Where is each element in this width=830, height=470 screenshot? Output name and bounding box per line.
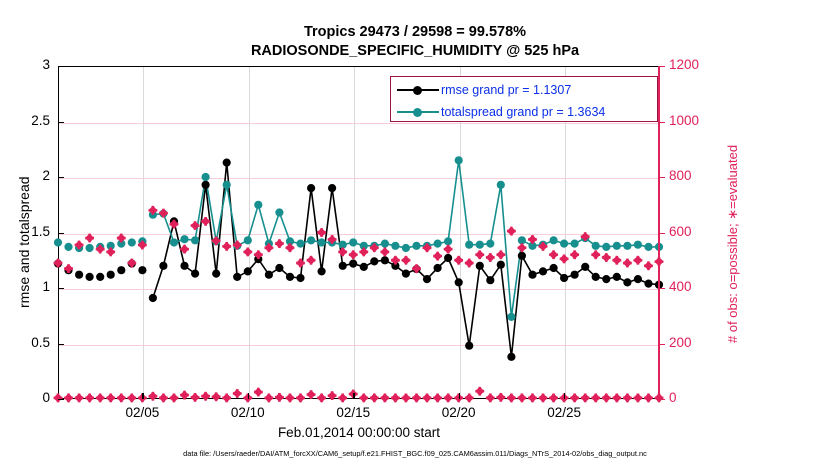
legend-swatch-rmse	[397, 83, 439, 97]
marker-rmse	[560, 274, 568, 282]
marker-obs-possible	[296, 258, 305, 267]
marker-totalspread	[402, 244, 410, 252]
marker-obs-evaluated	[359, 393, 368, 402]
y-tickmark-right-800	[659, 177, 665, 178]
marker-obs-evaluated	[581, 393, 590, 402]
y-tickmark-right-400	[659, 288, 665, 289]
marker-rmse	[339, 262, 347, 270]
marker-totalspread	[550, 236, 558, 244]
marker-obs-evaluated	[338, 393, 347, 402]
marker-totalspread	[86, 244, 94, 252]
marker-rmse	[465, 342, 473, 350]
marker-obs-possible	[591, 250, 600, 259]
y-tick-left-0.5: 0.5	[4, 335, 50, 350]
y-tickmark-right-1000	[659, 122, 665, 123]
marker-obs-evaluated	[422, 393, 431, 402]
marker-obs-evaluated	[285, 393, 294, 402]
marker-obs-possible	[602, 253, 611, 262]
chart-page: Tropics 29473 / 29598 = 99.578% RADIOSON…	[0, 0, 830, 470]
marker-obs-possible	[349, 250, 358, 259]
marker-obs-possible	[549, 250, 558, 259]
marker-totalspread	[623, 242, 631, 250]
marker-obs-evaluated	[254, 387, 263, 396]
marker-totalspread	[381, 240, 389, 248]
legend-item-totalspread[interactable]: totalspread grand pr = 1.3634	[391, 100, 605, 123]
marker-obs-possible	[401, 256, 410, 265]
marker-obs-evaluated	[159, 393, 168, 402]
marker-obs-possible	[222, 242, 231, 251]
marker-obs-possible	[633, 256, 642, 265]
marker-obs-possible	[517, 243, 526, 252]
marker-rmse	[96, 273, 104, 281]
marker-rmse	[528, 271, 536, 279]
marker-rmse	[233, 273, 241, 281]
marker-obs-evaluated	[53, 393, 62, 402]
marker-rmse	[202, 181, 210, 189]
marker-rmse	[223, 159, 231, 167]
marker-obs-evaluated	[180, 391, 189, 400]
marker-rmse	[623, 278, 631, 286]
marker-rmse	[180, 262, 188, 270]
marker-obs-possible	[496, 250, 505, 259]
marker-totalspread	[486, 240, 494, 248]
marker-obs-possible	[623, 258, 632, 267]
marker-rmse	[244, 267, 252, 275]
marker-obs-evaluated	[296, 393, 305, 402]
marker-obs-possible	[159, 208, 168, 217]
marker-obs-possible	[612, 256, 621, 265]
marker-obs-evaluated	[190, 393, 199, 402]
marker-totalspread	[349, 238, 357, 246]
marker-obs-possible	[560, 254, 569, 263]
x-tickmark-02/15	[353, 393, 354, 399]
marker-rmse	[476, 262, 484, 270]
marker-obs-evaluated	[433, 393, 442, 402]
data-file-footer: data file: /Users/raeder/DAI/ATM_forcXX/…	[0, 449, 830, 458]
marker-rmse	[581, 263, 589, 271]
y-tick-right-400: 400	[669, 279, 729, 294]
marker-rmse	[644, 280, 652, 288]
marker-rmse	[149, 294, 157, 302]
marker-obs-evaluated	[507, 393, 516, 402]
marker-obs-evaluated	[222, 393, 231, 402]
marker-totalspread	[318, 238, 326, 246]
marker-obs-evaluated	[85, 393, 94, 402]
y-tickmark-right-1200	[659, 66, 665, 67]
marker-rmse	[318, 267, 326, 275]
marker-obs-evaluated	[517, 393, 526, 402]
marker-obs-evaluated	[612, 393, 621, 402]
marker-obs-evaluated	[275, 393, 284, 402]
marker-rmse	[117, 266, 125, 274]
marker-obs-evaluated	[623, 393, 632, 402]
marker-totalspread	[634, 241, 642, 249]
marker-rmse	[539, 267, 547, 275]
y-tickmark-right-600	[659, 233, 665, 234]
marker-totalspread	[191, 236, 199, 244]
marker-obs-possible	[243, 247, 252, 256]
marker-totalspread	[412, 242, 420, 250]
y-tick-right-800: 800	[669, 168, 729, 183]
marker-obs-evaluated	[633, 393, 642, 402]
marker-obs-possible	[475, 250, 484, 259]
marker-obs-evaluated	[317, 393, 326, 402]
marker-obs-evaluated	[496, 393, 505, 402]
marker-rmse	[434, 264, 442, 272]
marker-totalspread	[465, 241, 473, 249]
y-tick-right-0: 0	[669, 390, 729, 405]
marker-totalspread	[307, 236, 315, 244]
marker-totalspread	[560, 240, 568, 248]
marker-totalspread	[244, 236, 252, 244]
marker-obs-evaluated	[64, 393, 73, 402]
x-tickmark-02/10	[248, 393, 249, 399]
legend-label-totalspread: totalspread grand pr = 1.3634	[441, 105, 605, 119]
y-tickmark-left-1.5	[58, 233, 64, 234]
marker-rmse	[550, 264, 558, 272]
marker-obs-evaluated	[380, 393, 389, 402]
marker-obs-evaluated	[391, 393, 400, 402]
marker-totalspread	[128, 238, 136, 246]
marker-rmse	[486, 276, 494, 284]
marker-rmse	[307, 184, 315, 192]
marker-obs-evaluated	[264, 393, 273, 402]
marker-totalspread	[518, 236, 526, 244]
marker-rmse	[613, 273, 621, 281]
marker-totalspread	[455, 156, 463, 164]
chart-legend: rmse grand pr = 1.1307 totalspread grand…	[390, 76, 658, 122]
marker-obs-evaluated	[233, 389, 242, 398]
marker-rmse	[296, 274, 304, 282]
marker-obs-possible	[85, 233, 94, 242]
marker-obs-evaluated	[96, 393, 105, 402]
marker-rmse	[455, 278, 463, 286]
marker-obs-possible	[465, 258, 474, 267]
marker-obs-possible	[53, 258, 62, 267]
marker-obs-evaluated	[401, 393, 410, 402]
marker-totalspread	[223, 181, 231, 189]
marker-obs-possible	[444, 245, 453, 254]
marker-obs-evaluated	[591, 393, 600, 402]
marker-rmse	[360, 263, 368, 271]
marker-totalspread	[602, 243, 610, 251]
marker-obs-possible	[338, 247, 347, 256]
marker-rmse	[138, 266, 146, 274]
marker-obs-evaluated	[117, 393, 126, 402]
marker-rmse	[634, 275, 642, 283]
marker-rmse	[602, 275, 610, 283]
y-tick-right-1000: 1000	[669, 113, 729, 128]
marker-obs-possible	[317, 228, 326, 237]
y-tickmark-left-0.5	[58, 344, 64, 345]
marker-totalspread	[592, 242, 600, 250]
marker-obs-possible	[644, 261, 653, 270]
marker-obs-evaluated	[212, 392, 221, 401]
x-tick-02/15: 02/15	[318, 405, 388, 420]
marker-obs-possible	[127, 258, 136, 267]
marker-obs-evaluated	[328, 391, 337, 400]
y-tickmark-left-1	[58, 288, 64, 289]
marker-rmse	[349, 260, 357, 268]
marker-rmse	[107, 271, 115, 279]
y-tick-left-3: 3	[4, 57, 50, 72]
marker-rmse	[275, 264, 283, 272]
marker-rmse	[402, 270, 410, 278]
marker-totalspread	[54, 238, 62, 246]
marker-obs-evaluated	[644, 393, 653, 402]
marker-obs-evaluated	[127, 393, 136, 402]
marker-obs-evaluated	[148, 392, 157, 401]
marker-obs-evaluated	[74, 393, 83, 402]
marker-rmse	[592, 273, 600, 281]
marker-totalspread	[64, 243, 72, 251]
y-tickmark-left-3	[58, 66, 64, 67]
marker-rmse	[212, 270, 220, 278]
y-tickmark-right-0	[659, 399, 665, 400]
marker-rmse	[286, 273, 294, 281]
marker-rmse	[423, 275, 431, 283]
marker-obs-evaluated	[465, 393, 474, 402]
y-tick-right-600: 600	[669, 224, 729, 239]
y-tick-right-200: 200	[669, 335, 729, 350]
marker-obs-possible	[507, 227, 516, 236]
marker-obs-evaluated	[201, 392, 210, 401]
marker-obs-evaluated	[370, 393, 379, 402]
y-tickmark-left-2	[58, 177, 64, 178]
marker-obs-possible	[359, 247, 368, 256]
marker-totalspread	[571, 240, 579, 248]
marker-totalspread	[613, 242, 621, 250]
marker-obs-possible	[306, 256, 315, 265]
marker-totalspread	[180, 235, 188, 243]
y-axis-right-label: # of obs: o=possible; ∗=evaluated	[725, 144, 741, 342]
marker-obs-possible	[486, 253, 495, 262]
marker-obs-evaluated	[412, 393, 421, 402]
marker-rmse	[518, 252, 526, 260]
x-axis-label: Feb.01,2014 00:00:00 start	[0, 425, 718, 440]
marker-obs-evaluated	[528, 393, 537, 402]
marker-totalspread	[507, 313, 515, 321]
marker-obs-evaluated	[169, 393, 178, 402]
marker-totalspread	[296, 240, 304, 248]
marker-totalspread	[202, 173, 210, 181]
marker-obs-evaluated	[549, 393, 558, 402]
marker-rmse	[86, 273, 94, 281]
marker-obs-evaluated	[444, 393, 453, 402]
marker-totalspread	[434, 240, 442, 248]
x-tick-02/25: 02/25	[529, 405, 599, 420]
y-axis-left-label: rmse and totalspread	[16, 176, 32, 308]
marker-totalspread	[476, 241, 484, 249]
marker-obs-possible	[433, 251, 442, 260]
marker-totalspread	[391, 242, 399, 250]
legend-label-rmse: rmse grand pr = 1.1307	[441, 83, 571, 97]
marker-rmse	[75, 271, 83, 279]
marker-obs-possible	[285, 243, 294, 252]
marker-obs-possible	[570, 250, 579, 259]
marker-totalspread	[444, 237, 452, 245]
marker-rmse	[381, 256, 389, 264]
marker-totalspread	[497, 181, 505, 189]
marker-rmse	[444, 254, 452, 262]
marker-totalspread	[644, 243, 652, 251]
y-tick-right-1200: 1200	[669, 57, 729, 72]
marker-obs-evaluated	[106, 393, 115, 402]
marker-obs-evaluated	[602, 393, 611, 402]
y-tickmark-left-2.5	[58, 122, 64, 123]
marker-obs-possible	[454, 256, 463, 265]
legend-swatch-totalspread	[397, 105, 439, 119]
marker-rmse	[497, 261, 505, 269]
marker-rmse	[265, 271, 273, 279]
chart-title-line1: Tropics 29473 / 29598 = 99.578%	[0, 24, 830, 40]
marker-rmse	[507, 353, 515, 361]
marker-obs-possible	[106, 247, 115, 256]
marker-rmse	[191, 270, 199, 278]
marker-obs-evaluated	[306, 390, 315, 399]
marker-obs-possible	[528, 235, 537, 244]
x-tick-02/20: 02/20	[424, 405, 494, 420]
marker-obs-evaluated	[486, 393, 495, 402]
y-tickmark-left-0	[58, 399, 64, 400]
marker-obs-evaluated	[538, 393, 547, 402]
marker-rmse	[370, 257, 378, 265]
x-tickmark-02/05	[142, 393, 143, 399]
marker-totalspread	[254, 201, 262, 209]
marker-obs-possible	[380, 247, 389, 256]
marker-rmse	[159, 262, 167, 270]
marker-rmse	[328, 184, 336, 192]
marker-obs-possible	[275, 239, 284, 248]
x-tickmark-02/25	[564, 393, 565, 399]
marker-totalspread	[170, 238, 178, 246]
x-tick-02/10: 02/10	[213, 405, 283, 420]
x-tickmark-02/20	[459, 393, 460, 399]
legend-item-rmse[interactable]: rmse grand pr = 1.1307	[391, 78, 571, 101]
marker-rmse	[571, 271, 579, 279]
marker-obs-evaluated	[475, 387, 484, 396]
y-tickmark-right-200	[659, 344, 665, 345]
y-tick-left-2.5: 2.5	[4, 113, 50, 128]
y-tick-left-0: 0	[4, 390, 50, 405]
marker-totalspread	[275, 208, 283, 216]
marker-obs-evaluated	[570, 393, 579, 402]
x-tick-02/05: 02/05	[107, 405, 177, 420]
